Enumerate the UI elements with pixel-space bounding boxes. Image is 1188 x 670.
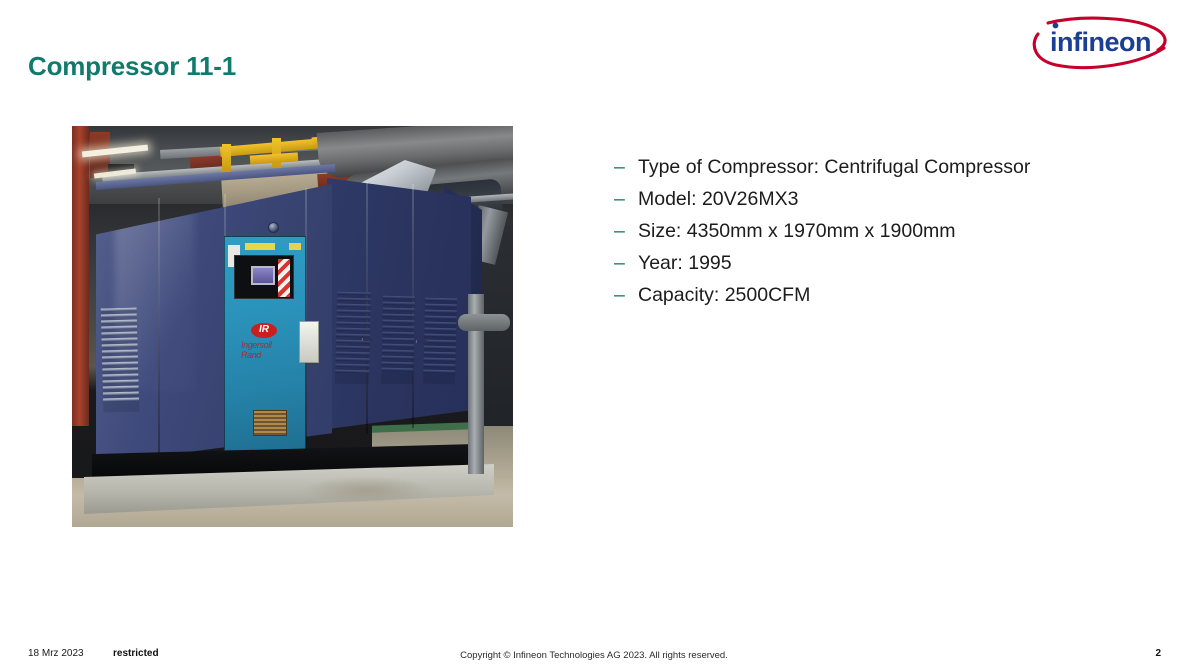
- ingersoll-rand-logo: Ingersoll Rand: [241, 323, 293, 357]
- panel-seam: [158, 198, 160, 456]
- louver-vent: [101, 308, 140, 413]
- svg-text:infineon: infineon: [1050, 27, 1151, 57]
- list-item-label: Model: 20V26MX3: [638, 187, 798, 212]
- bullet-dash-icon: –: [614, 251, 638, 276]
- footer-copyright: Copyright © Infineon Technologies AG 202…: [0, 650, 1188, 661]
- list-item-label: Type of Compressor: Centrifugal Compress…: [638, 155, 1030, 180]
- control-panel: Ingersoll Rand: [224, 236, 306, 451]
- bullet-dash-icon: –: [614, 283, 638, 308]
- list-item: – Capacity: 2500CFM: [614, 283, 1134, 308]
- list-item-label: Year: 1995: [638, 251, 732, 276]
- compressor-photo: Ingersoll Rand: [72, 126, 513, 527]
- controller-display-housing: [234, 255, 294, 299]
- list-item: – Model: 20V26MX3: [614, 187, 1134, 212]
- indicator-knob: [268, 222, 279, 233]
- slide: infineon Compressor 11-1: [0, 0, 1188, 670]
- panel-grille: [253, 410, 287, 436]
- louver-vent: [381, 296, 415, 385]
- list-item: – Size: 4350mm x 1970mm x 1900mm: [614, 219, 1134, 244]
- bullet-dash-icon: –: [614, 187, 638, 212]
- bullet-dash-icon: –: [614, 155, 638, 180]
- infineon-logo: infineon: [1028, 14, 1174, 72]
- footer-page-number: 2: [1155, 648, 1161, 659]
- controller-screen: [251, 266, 275, 285]
- ir-wordmark: Ingersoll Rand: [241, 340, 293, 360]
- list-item: – Type of Compressor: Centrifugal Compre…: [614, 155, 1134, 180]
- list-item-label: Size: 4350mm x 1970mm x 1900mm: [638, 219, 956, 244]
- list-item: – Year: 1995: [614, 251, 1134, 276]
- door-handle: [362, 338, 373, 341]
- yellow-label: [245, 243, 275, 250]
- spec-list: – Type of Compressor: Centrifugal Compre…: [614, 155, 1134, 315]
- yellow-label: [289, 243, 301, 250]
- louver-vent: [423, 298, 457, 385]
- pipe-elbow: [458, 314, 510, 331]
- paper-tag: [299, 321, 319, 363]
- hazard-stripe: [278, 259, 290, 297]
- list-item-label: Capacity: 2500CFM: [638, 283, 810, 308]
- floor-stain: [302, 476, 432, 504]
- bullet-dash-icon: –: [614, 219, 638, 244]
- red-column: [72, 126, 89, 426]
- ir-mark-icon: [251, 323, 277, 338]
- door-handle: [416, 340, 427, 343]
- page-title: Compressor 11-1: [28, 51, 236, 82]
